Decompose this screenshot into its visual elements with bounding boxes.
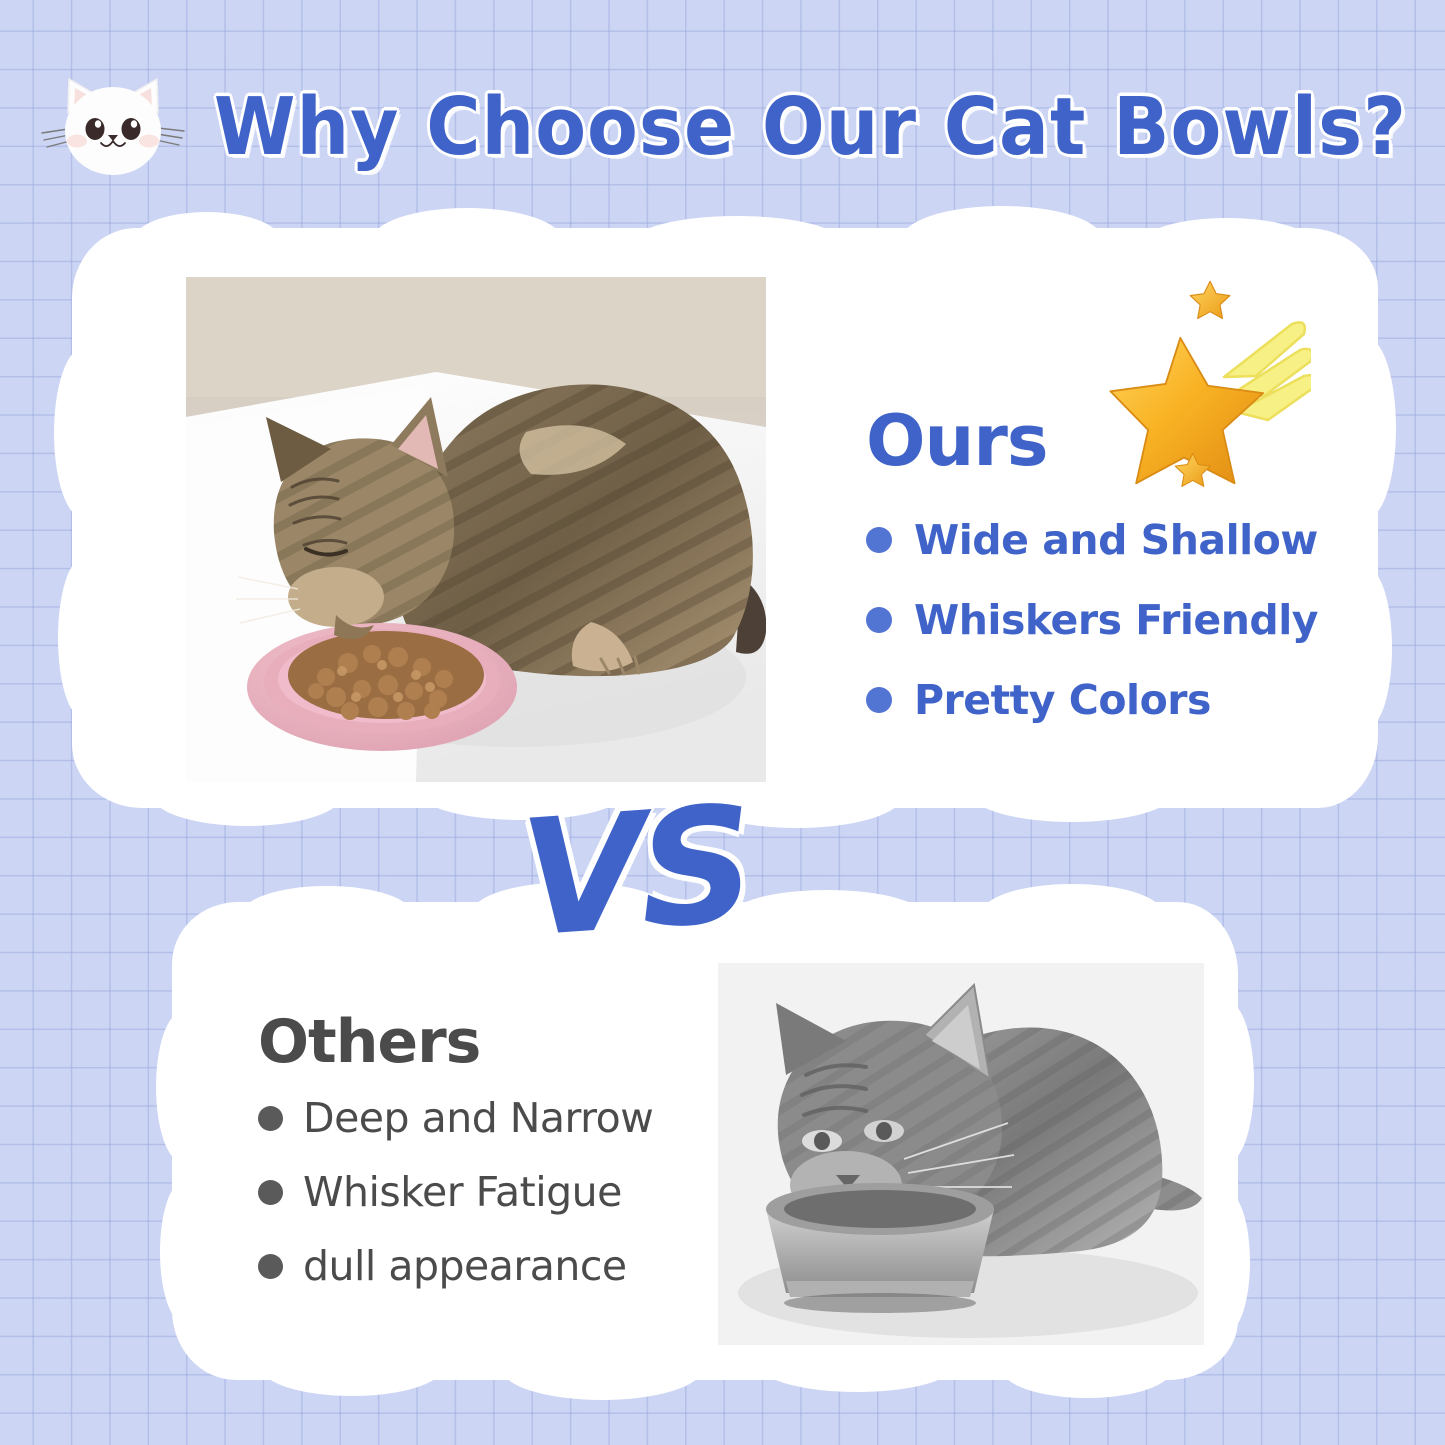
- page-header: Why Choose Our Cat Bowls?: [0, 62, 1445, 192]
- ours-feature-item: Whiskers Friendly: [866, 596, 1336, 644]
- card-edge-bump: [54, 348, 112, 518]
- bullet-dot-icon: [866, 687, 892, 713]
- card-edge-bump: [982, 884, 1162, 942]
- bullet-dot-icon: [866, 607, 892, 633]
- card-edge-bump: [972, 766, 1172, 822]
- ours-feature-item: Pretty Colors: [866, 676, 1336, 724]
- others-feature-label: Deep and Narrow: [303, 1094, 653, 1142]
- others-feature-item: Deep and Narrow: [258, 1094, 698, 1142]
- bullet-dot-icon: [258, 1106, 283, 1131]
- ours-product-photo: [186, 277, 766, 782]
- ours-feature-list: Wide and Shallow Whiskers Friendly Prett…: [866, 516, 1336, 724]
- card-edge-bump: [372, 208, 562, 272]
- ours-feature-label: Whiskers Friendly: [914, 596, 1318, 644]
- card-edge-bump: [502, 1338, 702, 1400]
- vs-badge: VS: [514, 774, 756, 970]
- others-feature-label: Whisker Fatigue: [303, 1168, 622, 1216]
- card-edge-bump: [242, 886, 412, 942]
- ours-content-column: Ours Wide and Shallow Whiskers Friendly …: [866, 406, 1336, 756]
- card-edge-bump: [1204, 1192, 1250, 1332]
- card-edge-bump: [1338, 338, 1396, 518]
- others-heading: Others: [258, 1012, 698, 1072]
- ours-heading: Ours: [866, 406, 1336, 476]
- bullet-dot-icon: [866, 527, 892, 553]
- others-feature-list: Deep and Narrow Whisker Fatigue dull app…: [258, 1094, 698, 1290]
- card-edge-bump: [132, 212, 282, 272]
- ours-feature-label: Wide and Shallow: [914, 516, 1318, 564]
- others-content-column: Others Deep and Narrow Whisker Fatigue d…: [258, 1012, 698, 1316]
- others-feature-item: Whisker Fatigue: [258, 1168, 698, 1216]
- card-edge-bump: [732, 890, 922, 940]
- bullet-dot-icon: [258, 1180, 283, 1205]
- ours-feature-item: Wide and Shallow: [866, 516, 1336, 564]
- cat-face-icon: [38, 71, 188, 183]
- cat-eating-deep-bowl-illustration: [718, 963, 1204, 1345]
- cat-eating-pink-dish-illustration: [186, 277, 766, 782]
- page-title: Why Choose Our Cat Bowls?: [214, 81, 1407, 173]
- others-feature-label: dull appearance: [303, 1242, 627, 1290]
- others-feature-item: dull appearance: [258, 1242, 698, 1290]
- card-edge-bump: [156, 1012, 208, 1162]
- card-edge-bump: [1002, 1340, 1172, 1398]
- card-edge-bump: [1142, 218, 1312, 268]
- ours-feature-label: Pretty Colors: [914, 676, 1211, 724]
- others-product-photo: [718, 963, 1204, 1345]
- card-edge-bump: [1202, 1002, 1254, 1162]
- card-edge-bump: [1342, 568, 1392, 728]
- card-edge-bump: [902, 206, 1102, 272]
- card-edge-bump: [58, 558, 108, 718]
- card-edge-bump: [762, 1342, 952, 1392]
- bullet-dot-icon: [258, 1254, 283, 1279]
- card-edge-bump: [160, 1182, 206, 1322]
- card-edge-bump: [632, 216, 842, 270]
- card-edge-bump: [262, 1340, 442, 1396]
